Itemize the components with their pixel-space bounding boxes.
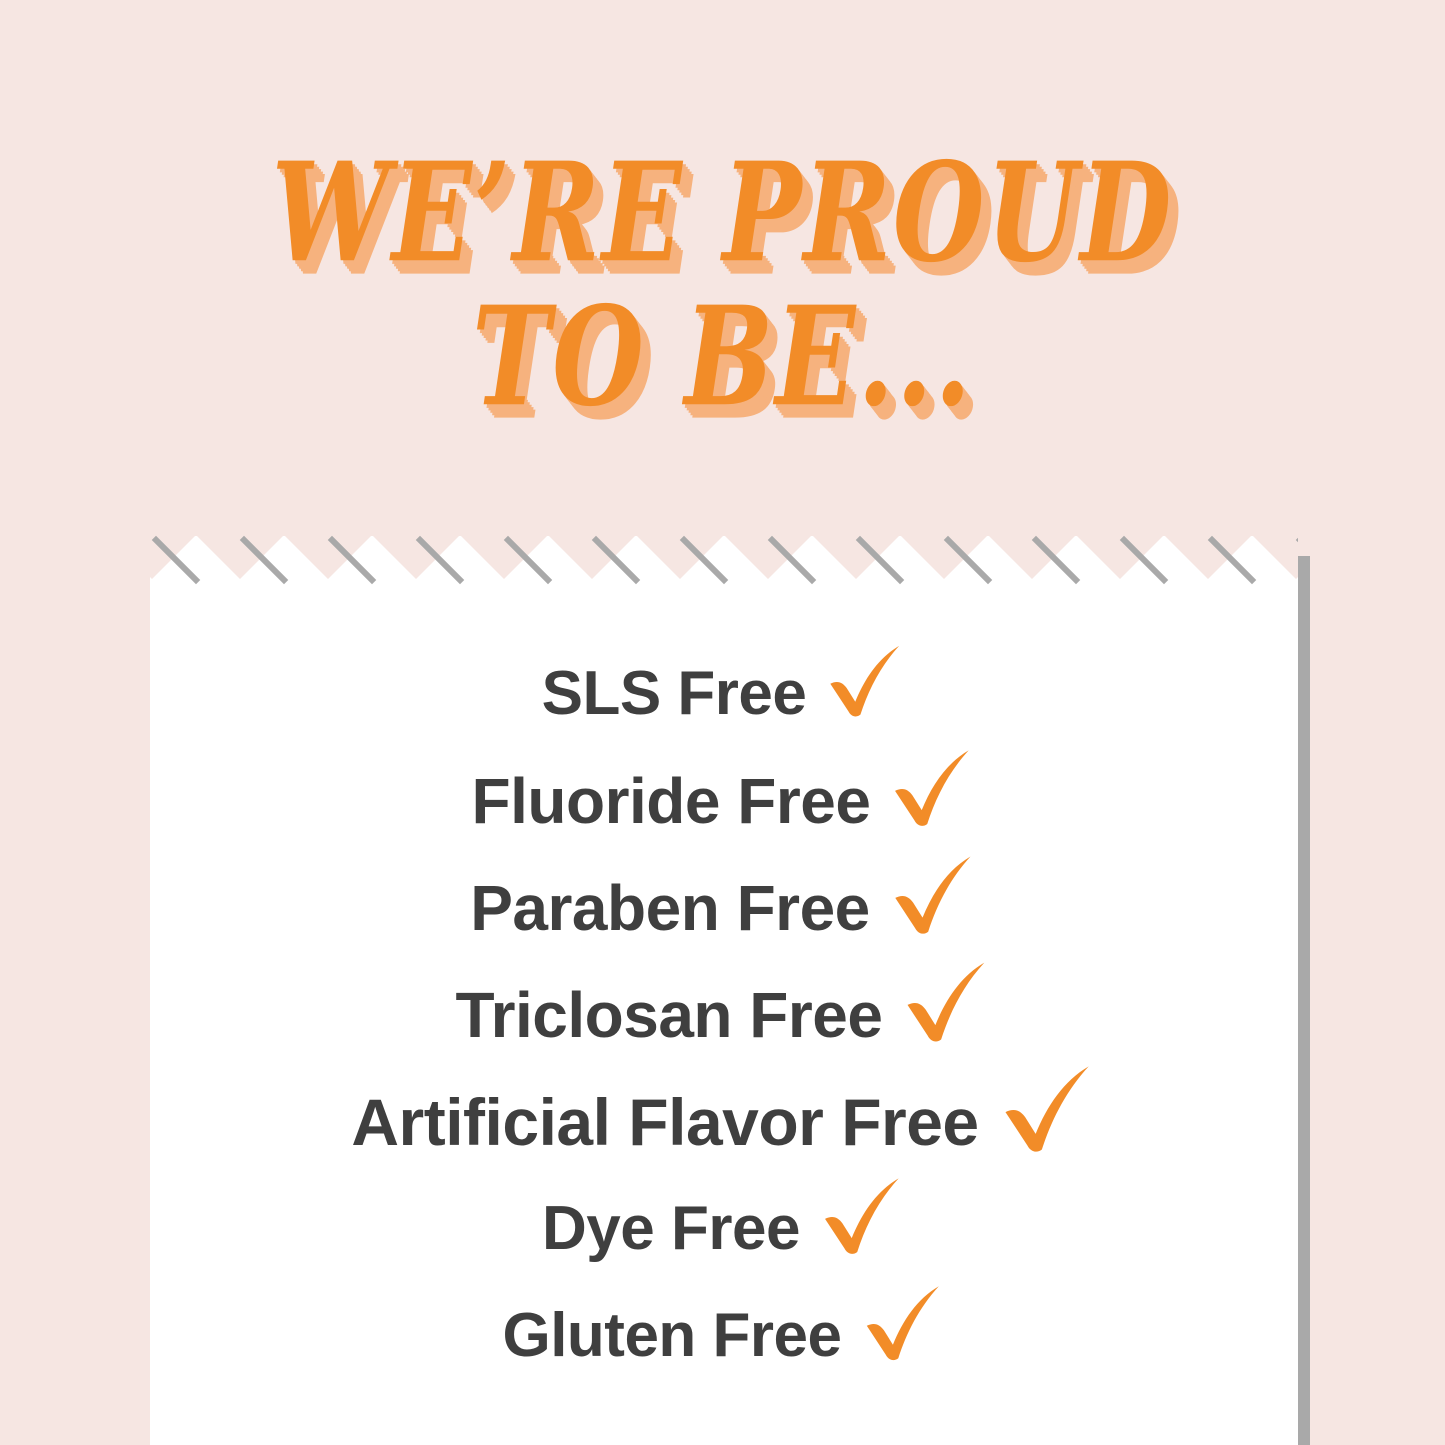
claim-label: Paraben Free <box>470 876 870 940</box>
claim-row: Gluten Free <box>150 1282 1298 1389</box>
headline-line-1: WE’RE PROUD <box>43 148 1401 279</box>
claim-row: Paraben Free <box>150 854 1298 961</box>
torn-edge-zigzag <box>150 530 1298 590</box>
orange-checkmark-icon <box>856 1279 946 1369</box>
claim-label: Artificial Flavor Free <box>351 1089 978 1155</box>
headline-block: WE’RE PROUD TO BE... <box>0 148 1445 399</box>
claim-label: Gluten Free <box>502 1305 841 1367</box>
claim-row: SLS Free <box>150 640 1298 747</box>
orange-checkmark-icon <box>884 743 976 835</box>
claims-list: SLS Free Fluoride Free Paraben Free <box>150 640 1298 1389</box>
claim-row: Triclosan Free <box>150 961 1298 1068</box>
orange-checkmark-icon <box>814 1171 906 1263</box>
orange-checkmark-icon <box>884 849 978 943</box>
claim-row: Dye Free <box>150 1175 1298 1282</box>
claim-row: Artificial Flavor Free <box>150 1068 1298 1175</box>
headline-line-2: TO BE... <box>43 292 1401 423</box>
orange-checkmark-icon <box>993 1058 1097 1162</box>
claim-label: SLS Free <box>542 663 807 725</box>
claim-row: Fluoride Free <box>150 747 1298 854</box>
claim-label: Dye Free <box>542 1198 800 1260</box>
claim-label: Triclosan Free <box>456 983 883 1047</box>
orange-checkmark-icon <box>820 639 906 725</box>
claim-label: Fluoride Free <box>472 769 871 833</box>
promo-graphic-canvas: WE’RE PROUD TO BE... <box>0 0 1445 1445</box>
orange-checkmark-icon <box>896 955 992 1051</box>
